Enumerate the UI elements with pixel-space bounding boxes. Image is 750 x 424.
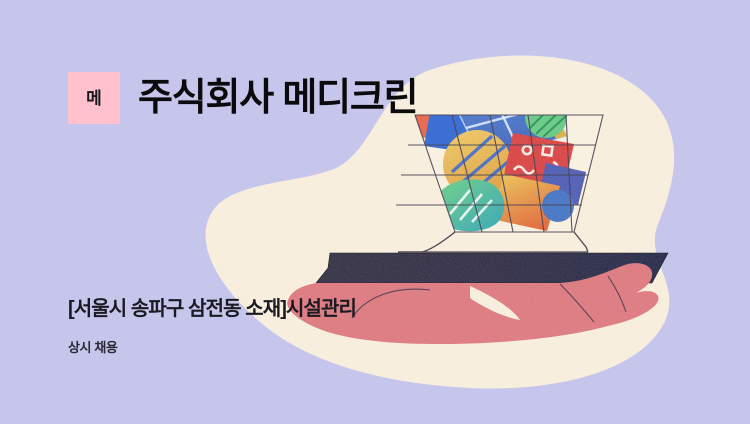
- company-logo-badge: 메: [68, 72, 120, 124]
- banner-content: 메 주식회사 메디크린 [서울시 송파구 삼전동 소재]시설관리 상시 채용: [0, 0, 750, 424]
- company-name: 주식회사 메디크린: [138, 79, 417, 117]
- job-title: [서울시 송파구 삼전동 소재]시설관리: [68, 297, 356, 321]
- job-posting-banner: 메 주식회사 메디크린 [서울시 송파구 삼전동 소재]시설관리 상시 채용: [0, 0, 750, 424]
- job-type-badge: 상시 채용: [68, 340, 117, 356]
- brand-row: 메 주식회사 메디크린: [68, 72, 417, 124]
